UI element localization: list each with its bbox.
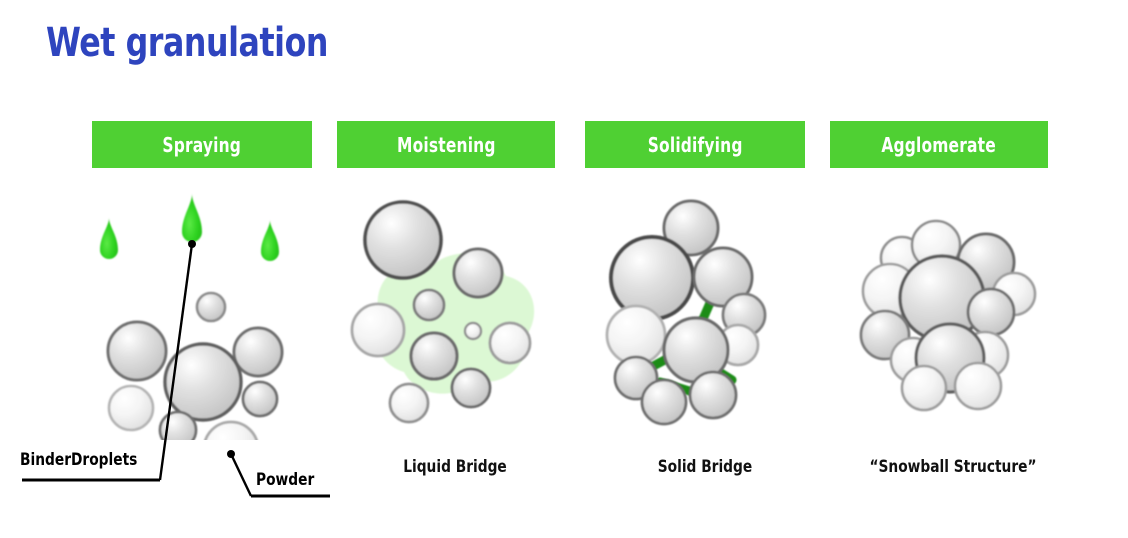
solidifying-illustration [580, 190, 830, 440]
stage-header-label: Moistening [397, 133, 496, 157]
snowball-particle-group [861, 221, 1035, 410]
panel-caption-snowball-structure: “Snowball Structure” [841, 457, 1066, 477]
stage-header-agglomerate[interactable]: Agglomerate [830, 121, 1048, 168]
moistening-illustration [330, 190, 580, 440]
stage-panel-agglomerate: “Snowball Structure” [828, 190, 1078, 520]
stage-header-label: Spraying [163, 133, 242, 157]
binder-droplet-right [261, 220, 279, 261]
stage-header-spraying[interactable]: Spraying [92, 121, 312, 168]
stage-header-moistening[interactable]: Moistening [337, 121, 555, 168]
callout-label-binder-droplets: BinderDroplets [20, 450, 137, 470]
powder-particle-group [108, 293, 282, 440]
binder-droplet-center [182, 194, 202, 242]
stage-header-label: Solidifying [648, 133, 743, 157]
stage-panel-moistening: Liquid Bridge [330, 190, 580, 520]
stage-header-solidifying[interactable]: Solidifying [585, 121, 805, 168]
panel-caption-solid-bridge: Solid Bridge [593, 457, 818, 477]
callout-label-powder: Powder [256, 470, 314, 490]
spraying-illustration [78, 190, 328, 440]
agglomerate-illustration [828, 190, 1078, 440]
stage-panel-solidifying: Solid Bridge [580, 190, 830, 520]
stage-header-label: Agglomerate [882, 133, 997, 157]
panel-caption-liquid-bridge: Liquid Bridge [343, 457, 568, 477]
powder-particle-labeled [204, 422, 258, 440]
binder-droplet-left [100, 218, 118, 259]
page-title: Wet granulation [46, 20, 328, 66]
